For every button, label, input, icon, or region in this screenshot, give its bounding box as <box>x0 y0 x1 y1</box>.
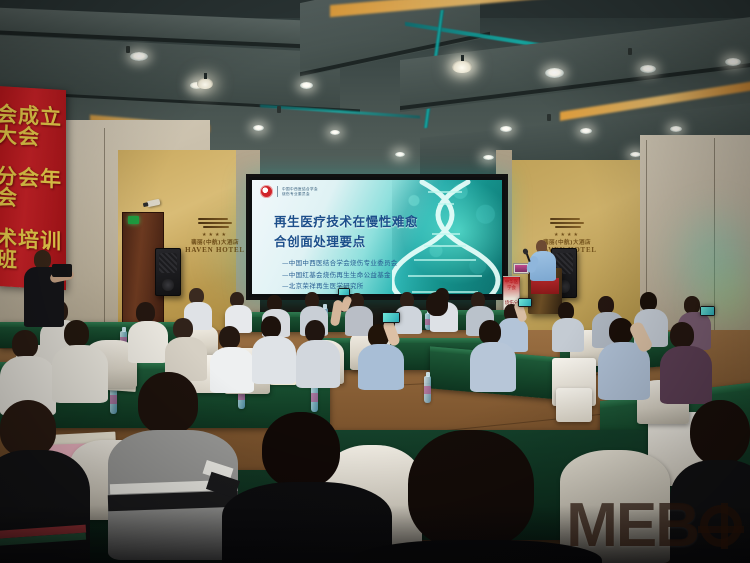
slide-subtitle-1: —中国中西医结合学会烧伤专业委员会 <box>282 258 432 270</box>
slide-org-logo: 中国中西医结合学会 烧伤专业委员会 <box>260 185 318 198</box>
ceiling-sprinkler <box>547 114 551 121</box>
ceiling-sprinkler <box>126 46 130 53</box>
crosshair-o-icon <box>700 505 742 547</box>
watermark-text: MEB <box>566 495 698 557</box>
exit-sign <box>128 216 139 224</box>
smartphone[interactable] <box>518 298 532 307</box>
slide-subtitle-2: —中国红基会烧伤再生生命公益基金 <box>282 270 432 282</box>
pa-speaker-left <box>155 248 181 296</box>
water-bottle[interactable] <box>424 376 431 403</box>
wall-banner: 会成立大会 分会年会 术培训班 <box>0 86 66 290</box>
smartphone[interactable] <box>382 312 400 323</box>
banner-line-2: 分会年会 <box>0 166 66 212</box>
downlight <box>130 52 148 61</box>
pendant-light <box>197 78 213 89</box>
downlight <box>395 152 405 157</box>
downlight <box>580 128 592 134</box>
hotel-name-cn: 翡丽(中航)大酒店 <box>520 238 614 246</box>
downlight <box>300 82 313 89</box>
downlight <box>330 130 340 135</box>
downlight <box>483 155 494 160</box>
camera-device[interactable] <box>52 264 72 277</box>
smartphone[interactable] <box>338 288 350 296</box>
pendant-light <box>452 60 472 73</box>
ceiling-sprinkler <box>628 48 632 55</box>
hotel-swoosh-icon <box>550 216 584 231</box>
mebo-watermark: MEB <box>566 495 742 557</box>
downlight <box>640 65 656 73</box>
slide-surface: 中国中西医结合学会 烧伤专业委员会 再生医疗技术在慢性难愈 合创面处理要点 —中… <box>252 180 502 294</box>
downlight <box>545 68 564 78</box>
org-line-2: 烧伤专业委员会 <box>282 192 318 197</box>
downlight <box>670 126 682 132</box>
chair-skirt <box>556 388 592 422</box>
slide-title-line-1: 再生医疗技术在慢性难愈 <box>274 212 424 232</box>
slide-subtitles: —中国中西医结合学会烧伤专业委员会 —中国红基会烧伤再生生命公益基金 —北京荣祥… <box>282 258 432 293</box>
downlight <box>725 58 741 66</box>
conference-hall-photo: 会成立大会 分会年会 术培训班 ★★★★ 翡丽(中航)大酒店 HAVEN HOT… <box>0 0 750 563</box>
org-emblem-icon <box>260 185 273 198</box>
banner-line-1: 会成立大会 <box>0 104 66 150</box>
ceiling-sprinkler <box>277 106 281 113</box>
slide-title-line-2: 合创面处理要点 <box>274 232 424 252</box>
smartphone[interactable] <box>700 306 715 316</box>
downlight <box>253 125 264 131</box>
slide-title: 再生医疗技术在慢性难愈 合创面处理要点 <box>274 212 424 252</box>
led-presentation-screen: 中国中西医结合学会 烧伤专业委员会 再生医疗技术在慢性难愈 合创面处理要点 —中… <box>246 174 508 300</box>
org-line-1: 中国中西医结合学会 <box>282 187 318 192</box>
downlight <box>500 126 512 132</box>
slide-subtitle-3: —北京荣祥再生医学研究所 <box>282 281 432 293</box>
hotel-swoosh-icon <box>198 216 232 231</box>
